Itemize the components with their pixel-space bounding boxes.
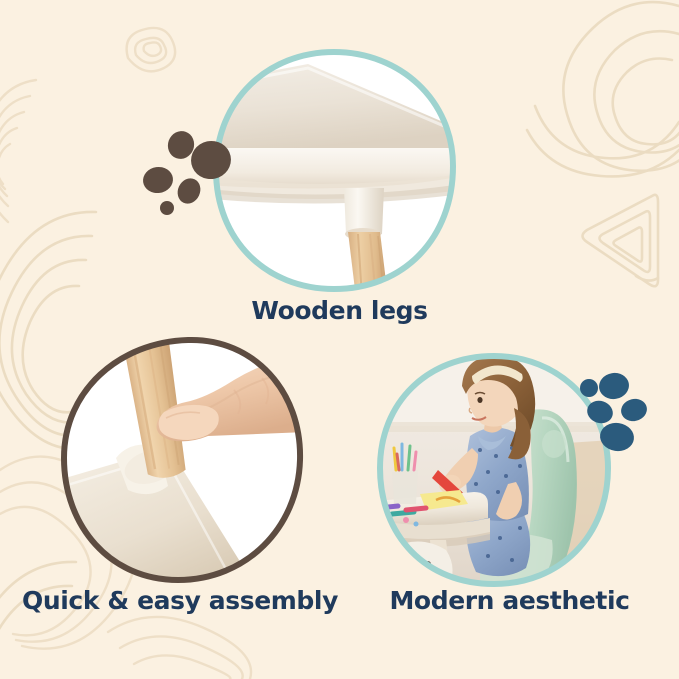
doodle-concentric-circle-top-right: [527, 2, 679, 176]
feature-modern-aesthetic: [376, 352, 612, 588]
product-feature-infographic: .dl { fill: none; stroke: #eedfc7; strok…: [0, 0, 679, 679]
caption-modern-aesthetic: Modern aesthetic: [340, 586, 679, 615]
photo-quick-easy-assembly: [58, 336, 306, 584]
caption-quick-easy-assembly: Quick & easy assembly: [0, 586, 360, 615]
doodle-concentric-oval-top-left: [0, 80, 36, 222]
doodle-spiral-triangle-right: [583, 195, 659, 286]
feature-quick-easy-assembly: [58, 336, 306, 584]
photo-wooden-legs: [212, 48, 457, 293]
doodle-concentric-oval-bottom-center: [108, 617, 251, 679]
doodle-concentric-circle-small-top: [127, 28, 176, 71]
feature-wooden-legs: [212, 48, 457, 293]
photo-modern-aesthetic: [376, 352, 612, 588]
caption-wooden-legs: Wooden legs: [0, 296, 679, 325]
